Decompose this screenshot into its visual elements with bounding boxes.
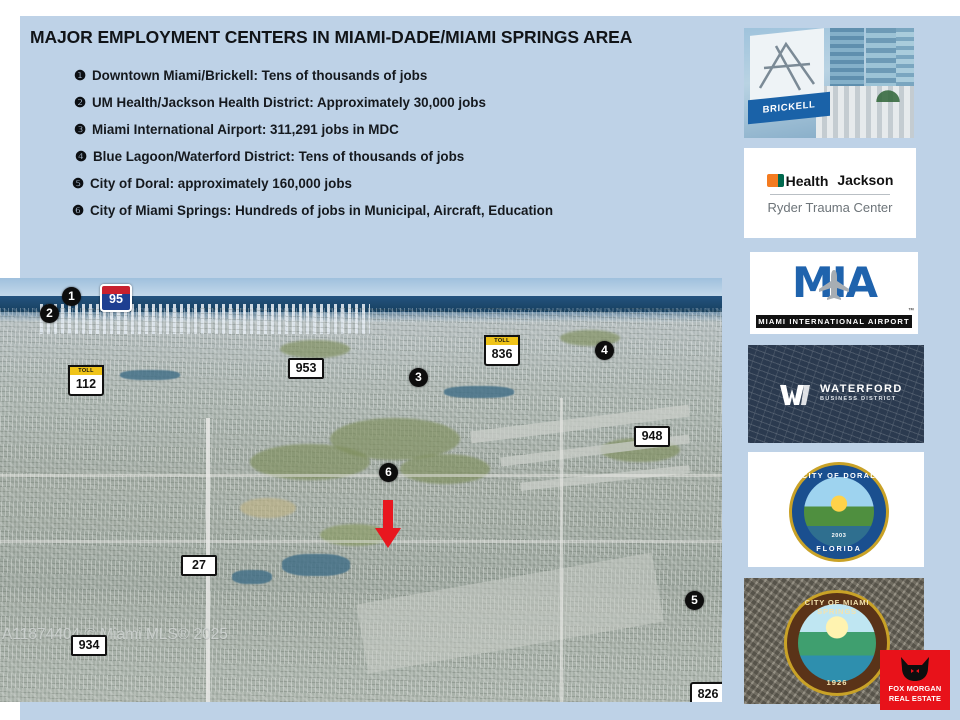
map-marker-2[interactable]: 2 [40,304,59,323]
shield-sr112-label: 112 [76,377,96,391]
waterford-w-mark-icon [778,383,812,407]
road-east-west [0,540,722,543]
road-east-west [0,474,722,477]
bare-lot [240,498,296,518]
doral-seal-year-label: 2003 [792,533,886,539]
palm-tree-icon [864,72,912,102]
miami-springs-seal-top-label: CITY OF MIAMI SPRINGS [787,598,887,616]
red-down-arrow-icon [375,500,401,548]
list-text-3: Miami International Airport: 311,291 job… [92,116,399,143]
map-marker-1[interactable]: 1 [62,287,81,306]
airplane-icon [817,268,851,302]
brickell-sign-graphic-icon [756,38,818,96]
aerial-map-image: A11874404 © Miami MLS® 2025 1 2 3 4 5 6 … [0,278,722,702]
list-marker-6: ❻ [72,197,90,224]
shield-sr836-label: 836 [492,347,513,361]
toll-tag: TOLL [68,365,104,375]
list-marker-4: ❹ [72,143,93,170]
u-logo-icon [767,174,780,187]
mia-logo-tile: MIA ™ MIAMI INTERNATIONAL AIRPORT [750,252,918,334]
doral-seal-bottom-label: FLORIDA [792,544,886,553]
waterford-logo-tile: WATERFORD BUSINESS DISTRICT [748,345,924,443]
mia-subtitle-label: MIAMI INTERNATIONAL AIRPORT [756,315,912,328]
green-space [400,454,490,484]
list-marker-1: ❶ [72,62,92,89]
mia-subtitle-bar: MIAMI INTERNATIONAL AIRPORT [756,315,912,328]
map-marker-5[interactable]: 5 [685,591,704,610]
shield-sr112[interactable]: TOLL 112 [68,372,104,396]
slide-canvas: MAJOR EMPLOYMENT CENTERS IN MIAMI-DADE/M… [0,0,960,720]
fox-morgan-line1-label: FOX MORGAN [880,684,950,693]
shield-sr934[interactable]: 934 [71,635,107,656]
road-sr826 [560,398,563,702]
list-text-6: City of Miami Springs: Hundreds of jobs … [90,197,553,224]
waterford-name-label: WATERFORD [820,383,903,395]
uhealth-wordmark-row: HealthJackson [744,172,916,190]
fox-head-icon [899,656,931,682]
list-text-5: City of Doral: approximately 160,000 job… [90,170,352,197]
canal [444,386,514,398]
shield-sr836[interactable]: TOLL 836 [484,342,520,366]
green-space [280,340,350,358]
shield-i95[interactable]: 95 [100,284,132,312]
jackson-label: Jackson [837,172,893,188]
list-item: ❸Miami International Airport: 311,291 jo… [72,116,732,143]
lake [282,554,350,576]
shield-sr826[interactable]: 826 [690,682,722,702]
shield-us27[interactable]: 27 [181,555,217,576]
list-item: ❷UM Health/Jackson Health District: Appr… [72,89,732,116]
fox-morgan-line2-label: REAL ESTATE [880,694,950,703]
list-item: ❻City of Miami Springs: Hundreds of jobs… [72,197,732,224]
ryder-trauma-center-label: Ryder Trauma Center [744,200,916,215]
list-item: ❶Downtown Miami/Brickell: Tens of thousa… [72,62,732,89]
doral-seal-top-label: CITY OF DORAL [792,471,886,480]
logo-divider [770,194,890,195]
uhealth-label: Health [786,173,829,189]
miami-springs-seal-year-label: 1926 [787,678,887,687]
map-marker-6[interactable]: 6 [379,463,398,482]
list-item: ❺City of Doral: approximately 160,000 jo… [72,170,732,197]
uhealth-jackson-logo-tile: HealthJackson Ryder Trauma Center [744,148,916,238]
shield-i95-label: 95 [109,292,123,306]
shield-sr953[interactable]: 953 [288,358,324,379]
page-title: MAJOR EMPLOYMENT CENTERS IN MIAMI-DADE/M… [30,27,730,48]
employment-centers-list: ❶Downtown Miami/Brickell: Tens of thousa… [72,62,732,224]
shield-sr948[interactable]: 948 [634,426,670,447]
map-marker-4[interactable]: 4 [595,341,614,360]
mls-watermark: A11874404 © Miami MLS® 2025 [2,626,228,644]
mia-trademark-symbol: ™ [908,308,914,314]
miami-springs-seal-icon: CITY OF MIAMI SPRINGS 1926 [784,590,890,696]
list-text-1: Downtown Miami/Brickell: Tens of thousan… [92,62,427,89]
shield-sr826-label: 826 [698,687,719,701]
doral-seal-icon: CITY OF DORAL 2003 FLORIDA [789,462,889,562]
brickell-photo-tile: BRICKELL [744,28,914,138]
city-of-doral-logo-tile: CITY OF DORAL 2003 FLORIDA [748,452,924,567]
list-marker-3: ❸ [72,116,92,143]
list-text-2: UM Health/Jackson Health District: Appro… [92,89,486,116]
waterford-subtitle-label: BUSINESS DISTRICT [820,396,896,402]
list-marker-2: ❷ [72,89,92,116]
list-text-4: Blue Lagoon/Waterford District: Tens of … [93,143,464,170]
list-item: ❹Blue Lagoon/Waterford District: Tens of… [72,143,732,170]
fox-morgan-logo-tile: FOX MORGAN REAL ESTATE [880,650,950,710]
toll-tag: TOLL [484,335,520,345]
list-marker-5: ❺ [72,170,90,197]
map-marker-3[interactable]: 3 [409,368,428,387]
canal [120,370,180,380]
lake [232,570,272,584]
